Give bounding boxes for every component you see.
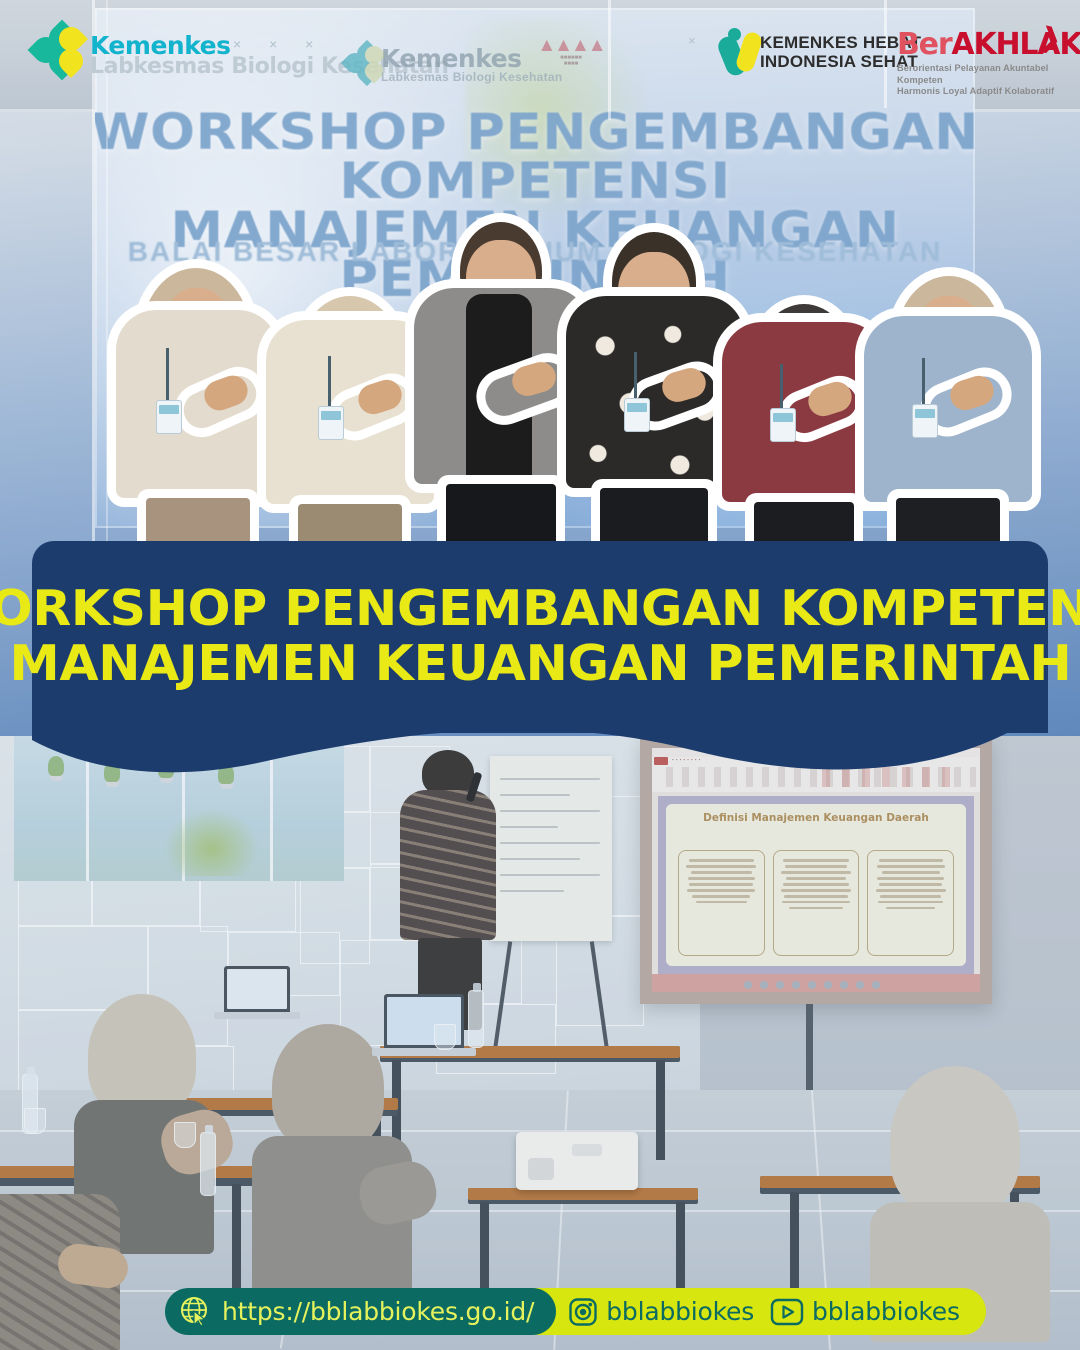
participant-1-hijab	[88, 994, 196, 1116]
social-bar: bblabbiokes bblabbiokes	[526, 1288, 986, 1335]
youtube-item[interactable]: bblabbiokes	[770, 1297, 960, 1326]
drinking-glass	[174, 1122, 196, 1148]
slide-title: Definisi Manajemen Keuangan Daerah	[676, 812, 956, 825]
classroom-photo: Presentasi – Manajemen Keuangan Daerah ▪…	[0, 736, 1080, 1350]
slide: Definisi Manajemen Keuangan Daerah	[666, 804, 966, 966]
person-4-badge	[624, 398, 650, 432]
person-5-badge	[770, 408, 796, 442]
speaker-torso	[400, 790, 496, 940]
berakhlak-tagline: Berorientasi Pelayanan Akuntabel Kompete…	[897, 63, 1057, 98]
water-bottle	[468, 990, 484, 1048]
title-line-1: WORKSHOP PENGEMBANGAN KOMPETENSI	[0, 582, 1080, 637]
berakhlak-logo: BerAKHLAK ❯ Berorientasi Pelayanan Akunt…	[897, 30, 1057, 98]
header-logo-row: Kemenkes Labkesmas Biologi Kesehatan × ×…	[0, 0, 1080, 105]
laptop-base	[372, 1048, 476, 1056]
table-leg	[480, 1202, 489, 1298]
drinking-glass	[434, 1024, 456, 1050]
berakhlak-prefix: Ber	[897, 27, 951, 62]
youtube-icon-svg	[770, 1298, 804, 1326]
person-2-lanyard	[328, 356, 331, 406]
powerpoint-canvas: Definisi Manajemen Keuangan Daerah	[658, 796, 974, 974]
flipchart-legs	[498, 941, 606, 1059]
slide-cards	[678, 850, 954, 956]
website-url: https://bblabbiokes.go.id/	[222, 1297, 534, 1326]
globe-icon-svg	[179, 1295, 213, 1329]
drinking-glass	[24, 1108, 46, 1134]
person-6	[852, 246, 1042, 570]
people-group	[0, 150, 1080, 570]
youtube-icon	[770, 1298, 804, 1326]
kemenkes-wordmark-secondary: Kemenkes	[381, 44, 521, 73]
website-pill[interactable]: https://bblabbiokes.go.id/	[165, 1288, 556, 1335]
projector-table	[468, 1188, 698, 1204]
youtube-handle: bblabbiokes	[812, 1297, 960, 1326]
kemenkes-logo-icon	[33, 25, 87, 79]
laptop-base	[214, 1012, 300, 1019]
person-6-badge	[912, 404, 938, 438]
title-line-2: MANAJEMEN KEUANGAN PEMERINTAH	[9, 637, 1071, 692]
person-4-lanyard	[634, 352, 637, 400]
slide-card	[867, 850, 954, 956]
globe-cursor-icon	[179, 1295, 213, 1329]
person-2-badge	[318, 406, 344, 440]
person-1-badge	[156, 400, 182, 434]
instagram-item[interactable]: bblabbiokes	[568, 1297, 754, 1327]
poster-root: WORKSHOP PENGEMBANGAN KOMPETENSI MANAJEM…	[0, 0, 1080, 1350]
instagram-icon	[568, 1297, 598, 1327]
partner-logo-icon: ▲▲▲▲ ■■■■■■ ■■■■	[533, 36, 609, 82]
participant-4-hijab	[890, 1066, 1020, 1216]
berakhlak-tagline-line1: Berorientasi Pelayanan Akuntabel Kompete…	[897, 63, 1057, 86]
participant-2	[248, 1024, 448, 1314]
participant-3	[0, 1154, 150, 1350]
partner-logo-figures: ▲▲▲▲	[533, 36, 609, 55]
person-6-lanyard	[922, 358, 925, 406]
slide-card	[773, 850, 860, 956]
table-leg	[676, 1202, 685, 1298]
projection-surface: Presentasi – Manajemen Keuangan Daerah ▪…	[652, 748, 980, 992]
projector-device	[516, 1132, 638, 1190]
person-5-lanyard	[780, 364, 783, 410]
kemenkes-logo-icon-secondary	[345, 44, 385, 84]
participant-2-hijab	[272, 1024, 384, 1150]
berakhlak-tagline-line2: Harmonis Loyal Adaptif Kolaboratif	[897, 86, 1057, 98]
table-leg	[656, 1060, 665, 1160]
slide-card	[678, 850, 765, 956]
water-bottle	[200, 1132, 216, 1196]
footer-bar: https://bblabbiokes.go.id/ bblabbiokes	[165, 1288, 986, 1335]
person-1-lanyard	[166, 348, 169, 400]
speaker-person	[392, 750, 512, 1030]
wave-shape	[32, 700, 1048, 780]
laptop-screen	[224, 966, 290, 1012]
partner-logo-text2: ■■■■	[533, 61, 609, 67]
instagram-icon-svg	[568, 1297, 598, 1327]
windows-taskbar[interactable]	[652, 974, 980, 992]
berakhlak-wordmark: BerAKHLAK ❯	[897, 30, 1057, 60]
decor-x-marks-left: × × ×	[233, 36, 325, 52]
hebat-figure-head	[728, 28, 741, 41]
instagram-handle: bblabbiokes	[606, 1297, 754, 1326]
title-banner-wave-edge	[32, 700, 1048, 780]
outdoor-greenery	[164, 808, 259, 876]
